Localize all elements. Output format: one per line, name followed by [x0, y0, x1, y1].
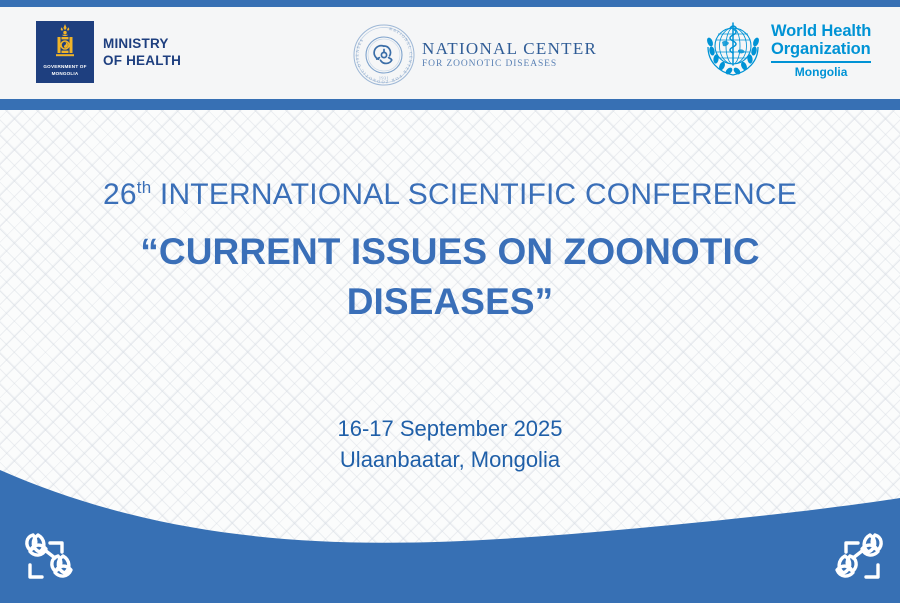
who-name-line2: Organization	[771, 40, 871, 59]
ministry-name-line2: OF HEALTH	[103, 52, 181, 69]
top-accent-rule	[0, 0, 900, 7]
header-accent-rule	[0, 99, 900, 110]
crest-caption-line2: MONGOLIA	[52, 71, 79, 77]
national-center-line2: FOR ZOONOTIC DISEASES	[422, 58, 597, 71]
ministry-name-line1: MINISTRY	[103, 35, 181, 52]
zoonotic-center-seal-icon: NATIONAL CENTER FOR ZOONOTIC DISEASES 19…	[352, 23, 416, 87]
crest-caption-line1: GOVERNMENT OF	[43, 64, 86, 70]
edition-rest: INTERNATIONAL SCIENTIFIC CONFERENCE	[151, 178, 797, 211]
national-center-zoonotic-diseases-logo: NATIONAL CENTER FOR ZOONOTIC DISEASES 19…	[352, 23, 597, 87]
edition-ordinal: th	[137, 178, 152, 197]
soyombo-emblem-icon	[52, 23, 78, 63]
wave-blue-fill	[0, 470, 900, 603]
footer-wave-decoration	[0, 440, 900, 603]
ministry-of-health-logo: GOVERNMENT OF MONGOLIA MINISTRY OF HEALT…	[36, 21, 181, 83]
who-country-label: Mongolia	[771, 65, 871, 79]
who-name-line1: World Health	[771, 22, 871, 41]
seal-year: 1931	[379, 76, 389, 81]
ministry-of-health-wordmark: MINISTRY OF HEALTH	[103, 35, 181, 69]
who-emblem-icon	[702, 20, 764, 80]
conference-edition-line: 26th INTERNATIONAL SCIENTIFIC CONFERENCE	[0, 175, 900, 215]
national-center-line1: NATIONAL CENTER	[422, 39, 597, 58]
national-center-wordmark: NATIONAL CENTER FOR ZOONOTIC DISEASES	[422, 39, 597, 71]
who-mongolia-logo: World Health Organization Mongolia	[702, 20, 871, 80]
conference-title-slide: GOVERNMENT OF MONGOLIA MINISTRY OF HEALT…	[0, 0, 900, 603]
mongolian-knot-ornament-left	[18, 527, 90, 589]
edition-number: 26	[103, 178, 137, 211]
mongolian-knot-ornament-right	[818, 527, 890, 589]
title-block: 26th INTERNATIONAL SCIENTIFIC CONFERENCE…	[0, 175, 900, 327]
who-wordmark: World Health Organization Mongolia	[771, 22, 871, 79]
who-divider	[771, 61, 871, 63]
government-of-mongolia-crest: GOVERNMENT OF MONGOLIA	[36, 21, 94, 83]
page-title: “CURRENT ISSUES ON ZOONOTIC DISEASES”	[0, 227, 900, 327]
